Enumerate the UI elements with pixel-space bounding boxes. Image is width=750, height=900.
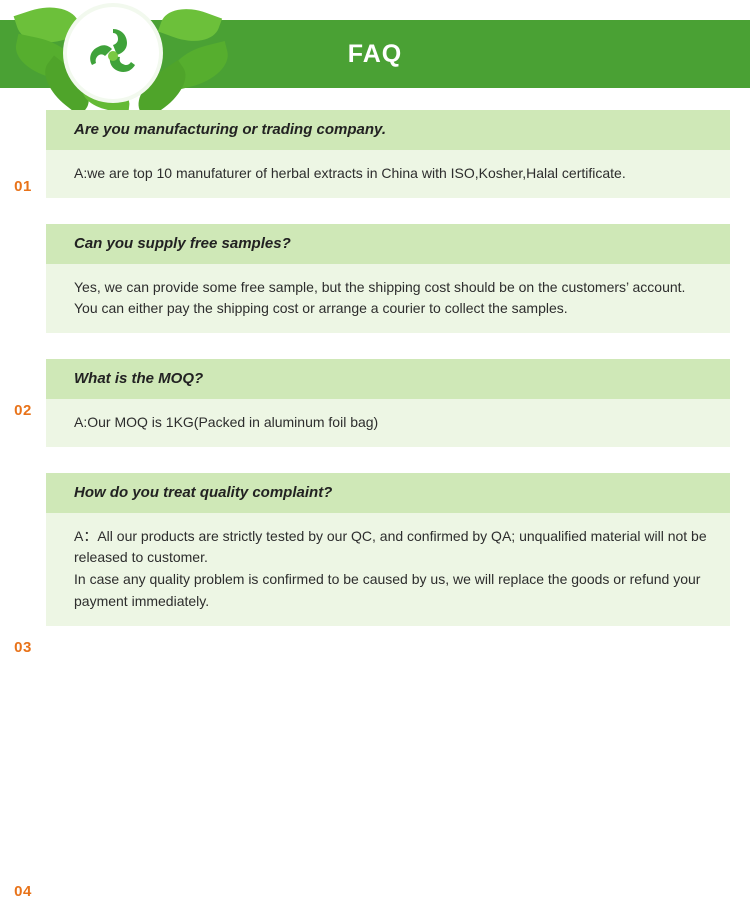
- faq-question-text: Can you supply free samples?: [74, 235, 291, 252]
- faq-number-badge: 01: [6, 178, 40, 195]
- faq-question-row: What is the MOQ?: [46, 359, 730, 399]
- faq-question-text: How do you treat quality complaint?: [74, 484, 332, 501]
- faq-answer-text: A：All our products are strictly tested b…: [74, 528, 707, 609]
- faq-item: 02 Can you supply free samples? Yes, we …: [0, 224, 750, 333]
- faq-question-row: How do you treat quality complaint?: [46, 473, 730, 513]
- faq-answer-row: A:we are top 10 manufaturer of herbal ex…: [46, 150, 730, 198]
- faq-answer-row: A：All our products are strictly tested b…: [46, 513, 730, 626]
- faq-answer-text: Yes, we can provide some free sample, bu…: [74, 279, 685, 317]
- faq-number-badge: 03: [6, 639, 40, 656]
- faq-question-row: Are you manufacturing or trading company…: [46, 110, 730, 150]
- triskelion-logo-icon: [83, 23, 143, 83]
- faq-question-row: Can you supply free samples?: [46, 224, 730, 264]
- faq-item: 01 Are you manufacturing or trading comp…: [0, 110, 750, 198]
- faq-question-text: Are you manufacturing or trading company…: [74, 121, 386, 138]
- faq-answer-text: A:Our MOQ is 1KG(Packed in aluminum foil…: [74, 414, 378, 430]
- faq-answer-row: A:Our MOQ is 1KG(Packed in aluminum foil…: [46, 399, 730, 447]
- faq-item: 04 How do you treat quality complaint? A…: [0, 473, 750, 626]
- faq-list: 01 Are you manufacturing or trading comp…: [0, 110, 750, 626]
- faq-answer-text: A:we are top 10 manufaturer of herbal ex…: [74, 165, 626, 181]
- page-header: FAQ: [0, 0, 750, 110]
- logo-circle: [67, 7, 159, 99]
- faq-answer-row: Yes, we can provide some free sample, bu…: [46, 264, 730, 333]
- faq-item: 03 What is the MOQ? A:Our MOQ is 1KG(Pac…: [0, 359, 750, 447]
- leaf-logo-icon: [12, 0, 222, 110]
- faq-number-badge: 04: [6, 883, 40, 900]
- faq-question-text: What is the MOQ?: [74, 370, 203, 387]
